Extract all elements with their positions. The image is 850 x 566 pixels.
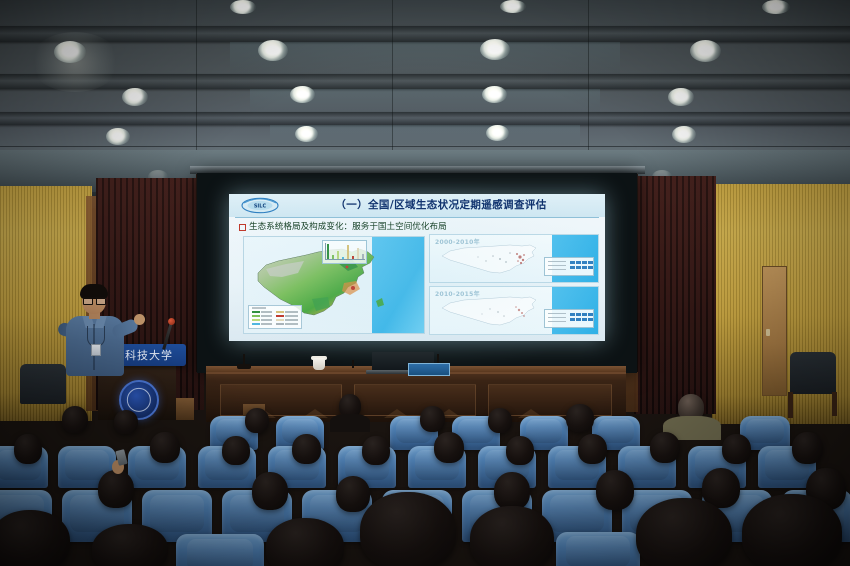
audience-head	[0, 510, 70, 566]
map-legend	[544, 257, 594, 276]
theater-seat[interactable]	[556, 532, 640, 566]
audience-head	[245, 408, 269, 433]
audience-head	[650, 432, 680, 463]
door-handle-icon	[766, 329, 770, 336]
presentation-slide: SILC （一）全国/区域生态状况定期遥感调查评估 生态系统格局及构成变化：服务…	[229, 194, 605, 341]
institute-logo-icon: SILC	[241, 197, 279, 214]
change-map-2000-2010: 2000-2010年	[429, 234, 599, 283]
audience-head	[150, 432, 180, 463]
teacup	[313, 358, 325, 370]
audience-head	[596, 470, 634, 510]
audience-head	[420, 406, 445, 432]
audience-head	[722, 434, 751, 464]
audience-head	[222, 436, 250, 465]
lecture-hall-photo: SILC （一）全国/区域生态状况定期遥感调查评估 生态系统格局及构成变化：服务…	[0, 0, 850, 566]
ceiling-lamp	[258, 40, 288, 61]
map-legend	[544, 309, 594, 328]
audience-area	[0, 398, 850, 566]
audience-head	[336, 476, 370, 512]
audience-head	[742, 494, 842, 566]
desk-nameplate	[408, 363, 450, 376]
chart-bar	[357, 248, 359, 260]
audience-head	[98, 470, 134, 508]
bullet-square-icon	[239, 224, 246, 231]
audience-head	[488, 408, 512, 433]
presenter-glasses-icon	[83, 297, 105, 303]
china-outline	[438, 294, 558, 329]
audience-head	[506, 436, 534, 465]
ceiling-lamp	[106, 128, 130, 145]
map-legend	[248, 305, 302, 329]
ceiling-lamp	[122, 88, 148, 106]
ceiling-lamp	[290, 86, 315, 103]
audience-head	[266, 518, 344, 566]
chart-bar	[347, 245, 349, 260]
ceiling-lamp	[482, 86, 507, 103]
change-map-2010-2015: 2010-2015年	[429, 286, 599, 335]
audience-head	[566, 404, 594, 432]
ceiling-lamp	[230, 0, 256, 14]
ceiling-lamp	[672, 126, 696, 143]
audience-head	[470, 506, 554, 566]
ceiling-lamp	[486, 125, 509, 141]
ceiling-lamp	[690, 40, 721, 62]
side-chair	[790, 352, 836, 394]
audience-head	[494, 472, 530, 510]
audience-head	[62, 406, 88, 433]
slide-bullet-text: 生态系统格局及构成变化：服务于国土空间优化布局	[249, 220, 447, 232]
svg-text:SILC: SILC	[254, 204, 267, 210]
presenter	[60, 286, 132, 376]
audience-head	[114, 410, 138, 434]
ceiling-lamp	[500, 0, 526, 13]
audience-head	[636, 498, 732, 566]
audience-head	[792, 432, 823, 464]
right-stage-curtain	[634, 176, 716, 414]
audience-head	[14, 434, 42, 464]
desk-microphone	[352, 360, 354, 368]
audience-head	[92, 524, 168, 566]
presenter-id-badge	[91, 344, 101, 356]
slide-title: （一）全国/区域生态状况定期遥感调查评估	[281, 197, 601, 212]
audience-head	[292, 434, 321, 464]
audience-head	[362, 436, 390, 465]
main-china-ecosystem-map	[243, 236, 425, 334]
ceiling-lamp	[295, 126, 318, 142]
title-divider	[235, 217, 599, 218]
slide-bullet-row: 生态系统格局及构成变化：服务于国土空间优化布局	[239, 221, 539, 234]
chart-bar	[327, 244, 329, 260]
audience-head	[360, 492, 456, 566]
ceiling-lamp	[668, 88, 694, 106]
audience-head	[252, 472, 288, 510]
theater-seat[interactable]	[176, 534, 264, 566]
podium-microphone-head	[168, 318, 175, 325]
inset-bar-chart	[322, 240, 367, 264]
audience-head	[434, 432, 464, 463]
audience-shoulders	[330, 414, 370, 432]
side-door[interactable]	[762, 266, 787, 396]
desk-microphone-base	[237, 364, 251, 369]
audience-head	[578, 434, 607, 464]
china-outline	[438, 242, 558, 277]
ceiling-lamp	[762, 0, 790, 14]
ceiling-lamp	[54, 41, 86, 63]
ceiling-lamp	[480, 39, 510, 60]
presenter-right-hand	[134, 314, 145, 325]
